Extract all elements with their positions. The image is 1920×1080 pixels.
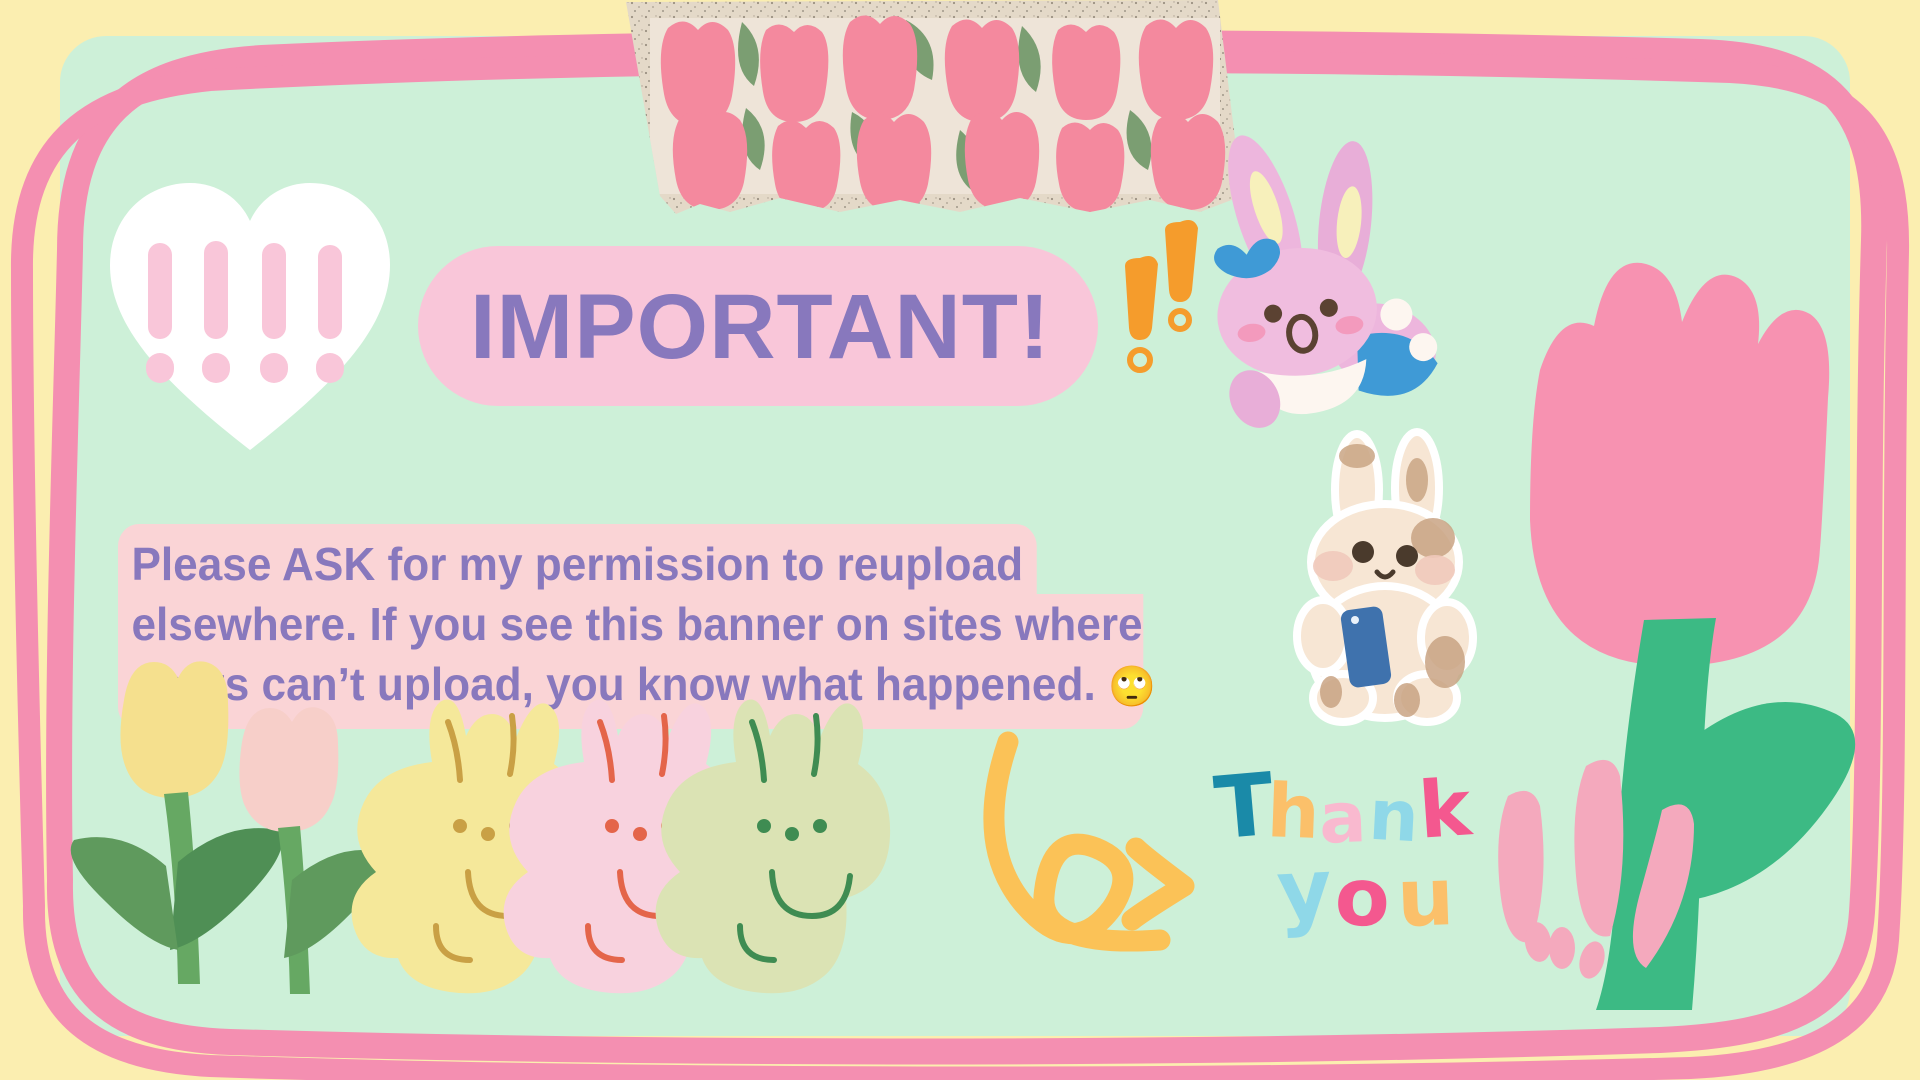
thank-you-letter-o: o — [1333, 850, 1391, 945]
thank-you-text: Thank you — [1215, 755, 1216, 756]
thank-you-letter-k: k — [1416, 763, 1474, 856]
message-line-3-text: users can’t upload, you know what happen… — [131, 658, 1095, 710]
message-line-2: elsewhere. If you see this banner on sit… — [118, 594, 1143, 654]
thank-you-letter-n: n — [1367, 774, 1421, 858]
message-line-1: Please ASK for my permission to reupload — [118, 524, 1036, 594]
rolling-eyes-emoji: 🙄 — [1108, 665, 1156, 709]
message-box: Please ASK for my permission to reupload… — [118, 524, 1158, 722]
thank-you-lettering: Thank you Thankyou — [1215, 755, 1505, 955]
page-title: IMPORTANT! — [470, 272, 1090, 382]
thank-you-letter-u: u — [1395, 850, 1455, 945]
white-heart-with-exclamations — [100, 165, 400, 465]
thank-you-letter-y: y — [1274, 840, 1334, 941]
banner-canvas: IMPORTANT! — [0, 0, 1920, 1080]
